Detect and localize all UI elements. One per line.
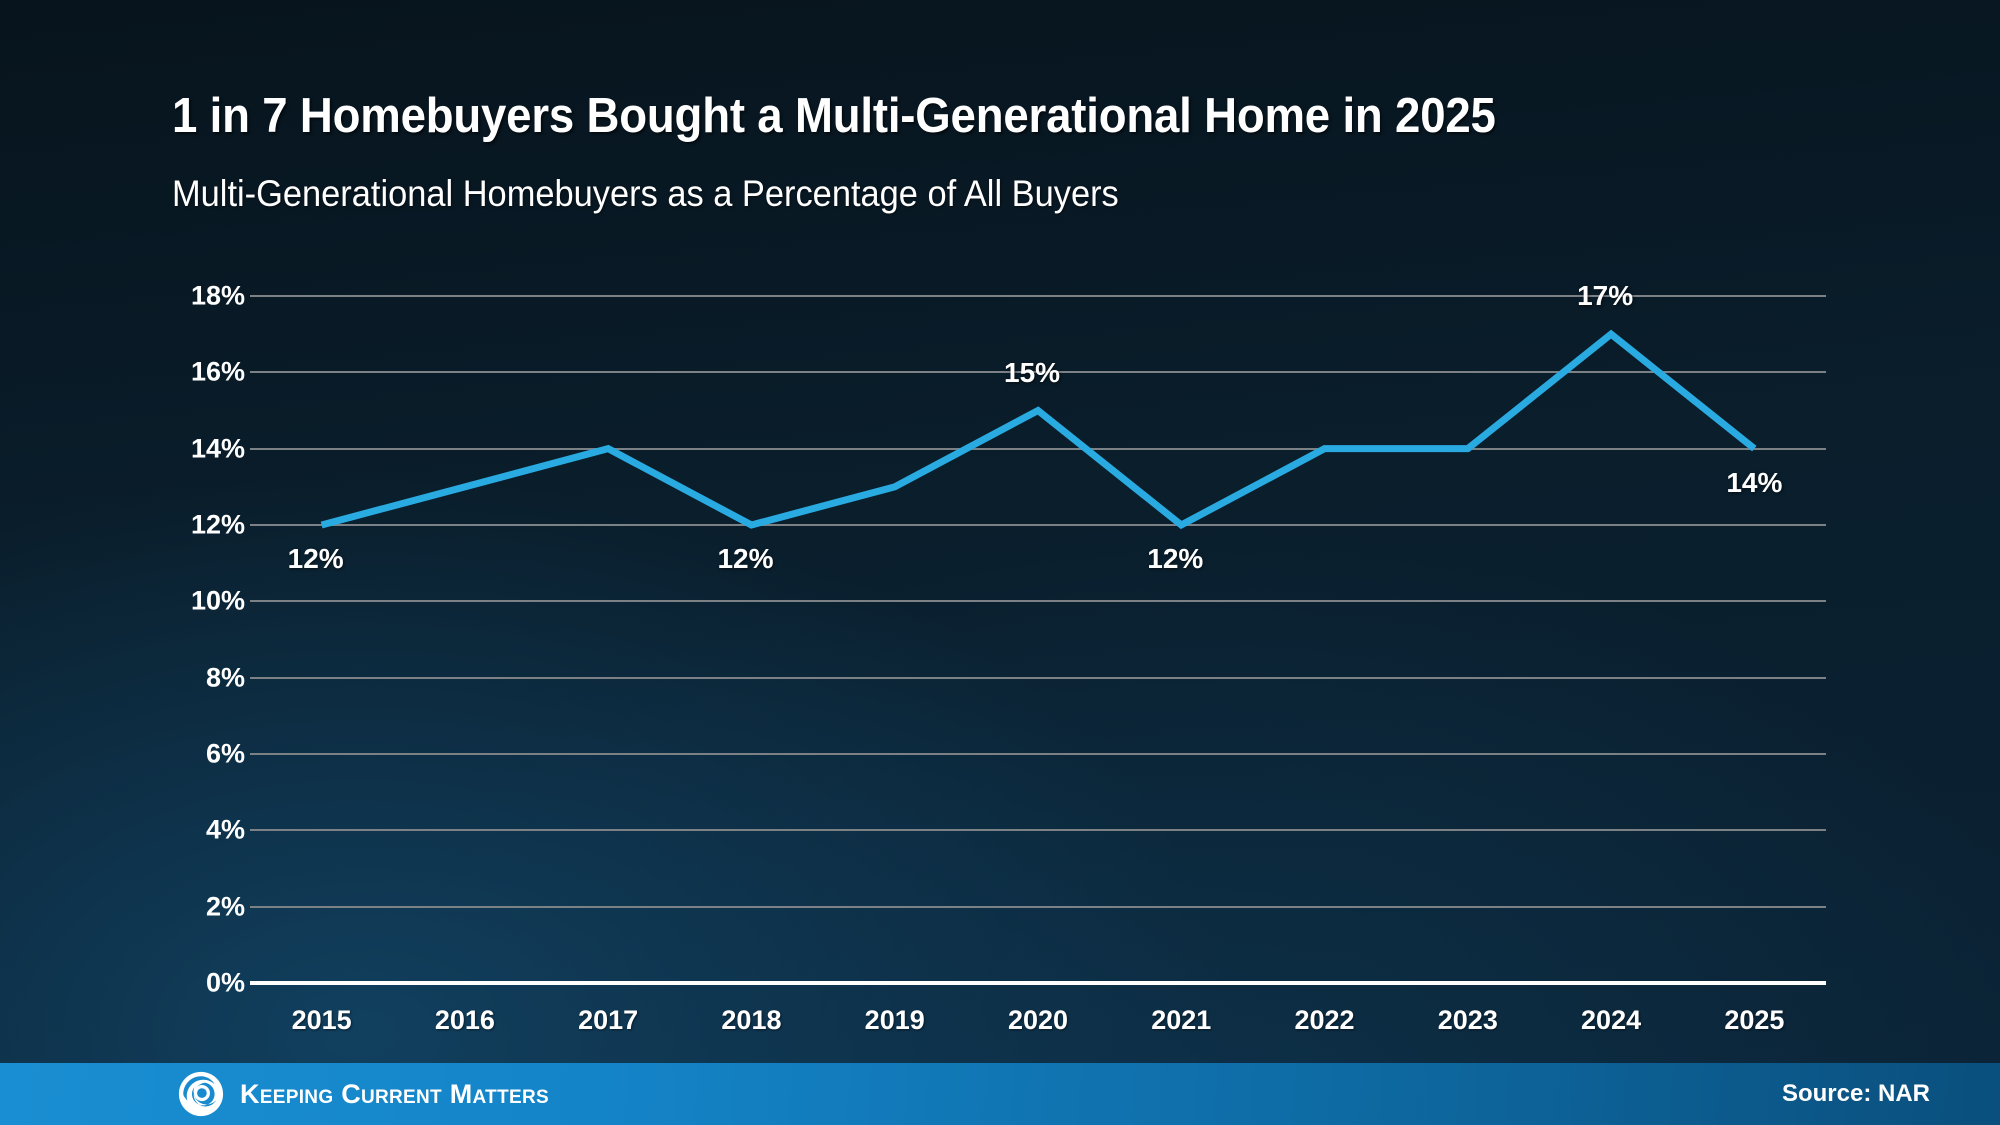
- data-point-label: 12%: [288, 543, 344, 575]
- line-chart: 0%2%4%6%8%10%12%14%16%18% 20152016201720…: [0, 0, 2000, 1060]
- y-axis-labels: 0%2%4%6%8%10%12%14%16%18%: [155, 0, 245, 1060]
- x-axis-tick-label: 2021: [1151, 1005, 1211, 1036]
- y-axis-tick-label: 12%: [155, 510, 245, 541]
- chart-plot-area: [250, 0, 1826, 1060]
- data-point-label: 14%: [1726, 467, 1782, 499]
- brand-lockup: Keeping Current Matters: [178, 1071, 549, 1117]
- y-axis-tick-label: 6%: [155, 739, 245, 770]
- x-axis-tick-label: 2020: [1008, 1005, 1068, 1036]
- x-axis-tick-label: 2015: [292, 1005, 352, 1036]
- infographic-canvas: 1 in 7 Homebuyers Bought a Multi-Generat…: [0, 0, 2000, 1125]
- y-axis-tick-label: 0%: [155, 968, 245, 999]
- x-axis-tick-label: 2019: [865, 1005, 925, 1036]
- footer-bar: Keeping Current Matters Source: NAR: [0, 1063, 2000, 1125]
- x-axis-tick-label: 2023: [1438, 1005, 1498, 1036]
- source-attribution: Source: NAR: [1782, 1080, 1930, 1108]
- y-axis-tick-label: 8%: [155, 662, 245, 693]
- x-axis-tick-label: 2022: [1294, 1005, 1354, 1036]
- kcm-swirl-logo-icon: [178, 1071, 224, 1117]
- data-point-label: 15%: [1004, 357, 1060, 389]
- x-axis-tick-label: 2025: [1724, 1005, 1784, 1036]
- x-axis-tick-label: 2018: [721, 1005, 781, 1036]
- y-axis-tick-label: 16%: [155, 357, 245, 388]
- data-series-line: [250, 0, 1826, 1060]
- data-point-label: 12%: [1147, 543, 1203, 575]
- x-axis-tick-label: 2017: [578, 1005, 638, 1036]
- y-axis-tick-label: 18%: [155, 281, 245, 312]
- data-point-label: 12%: [717, 543, 773, 575]
- y-axis-tick-label: 14%: [155, 433, 245, 464]
- y-axis-tick-label: 4%: [155, 815, 245, 846]
- y-axis-tick-label: 2%: [155, 891, 245, 922]
- x-axis-tick-label: 2024: [1581, 1005, 1641, 1036]
- data-point-label: 17%: [1577, 280, 1633, 312]
- y-axis-tick-label: 10%: [155, 586, 245, 617]
- brand-name: Keeping Current Matters: [240, 1079, 549, 1110]
- x-axis-tick-label: 2016: [435, 1005, 495, 1036]
